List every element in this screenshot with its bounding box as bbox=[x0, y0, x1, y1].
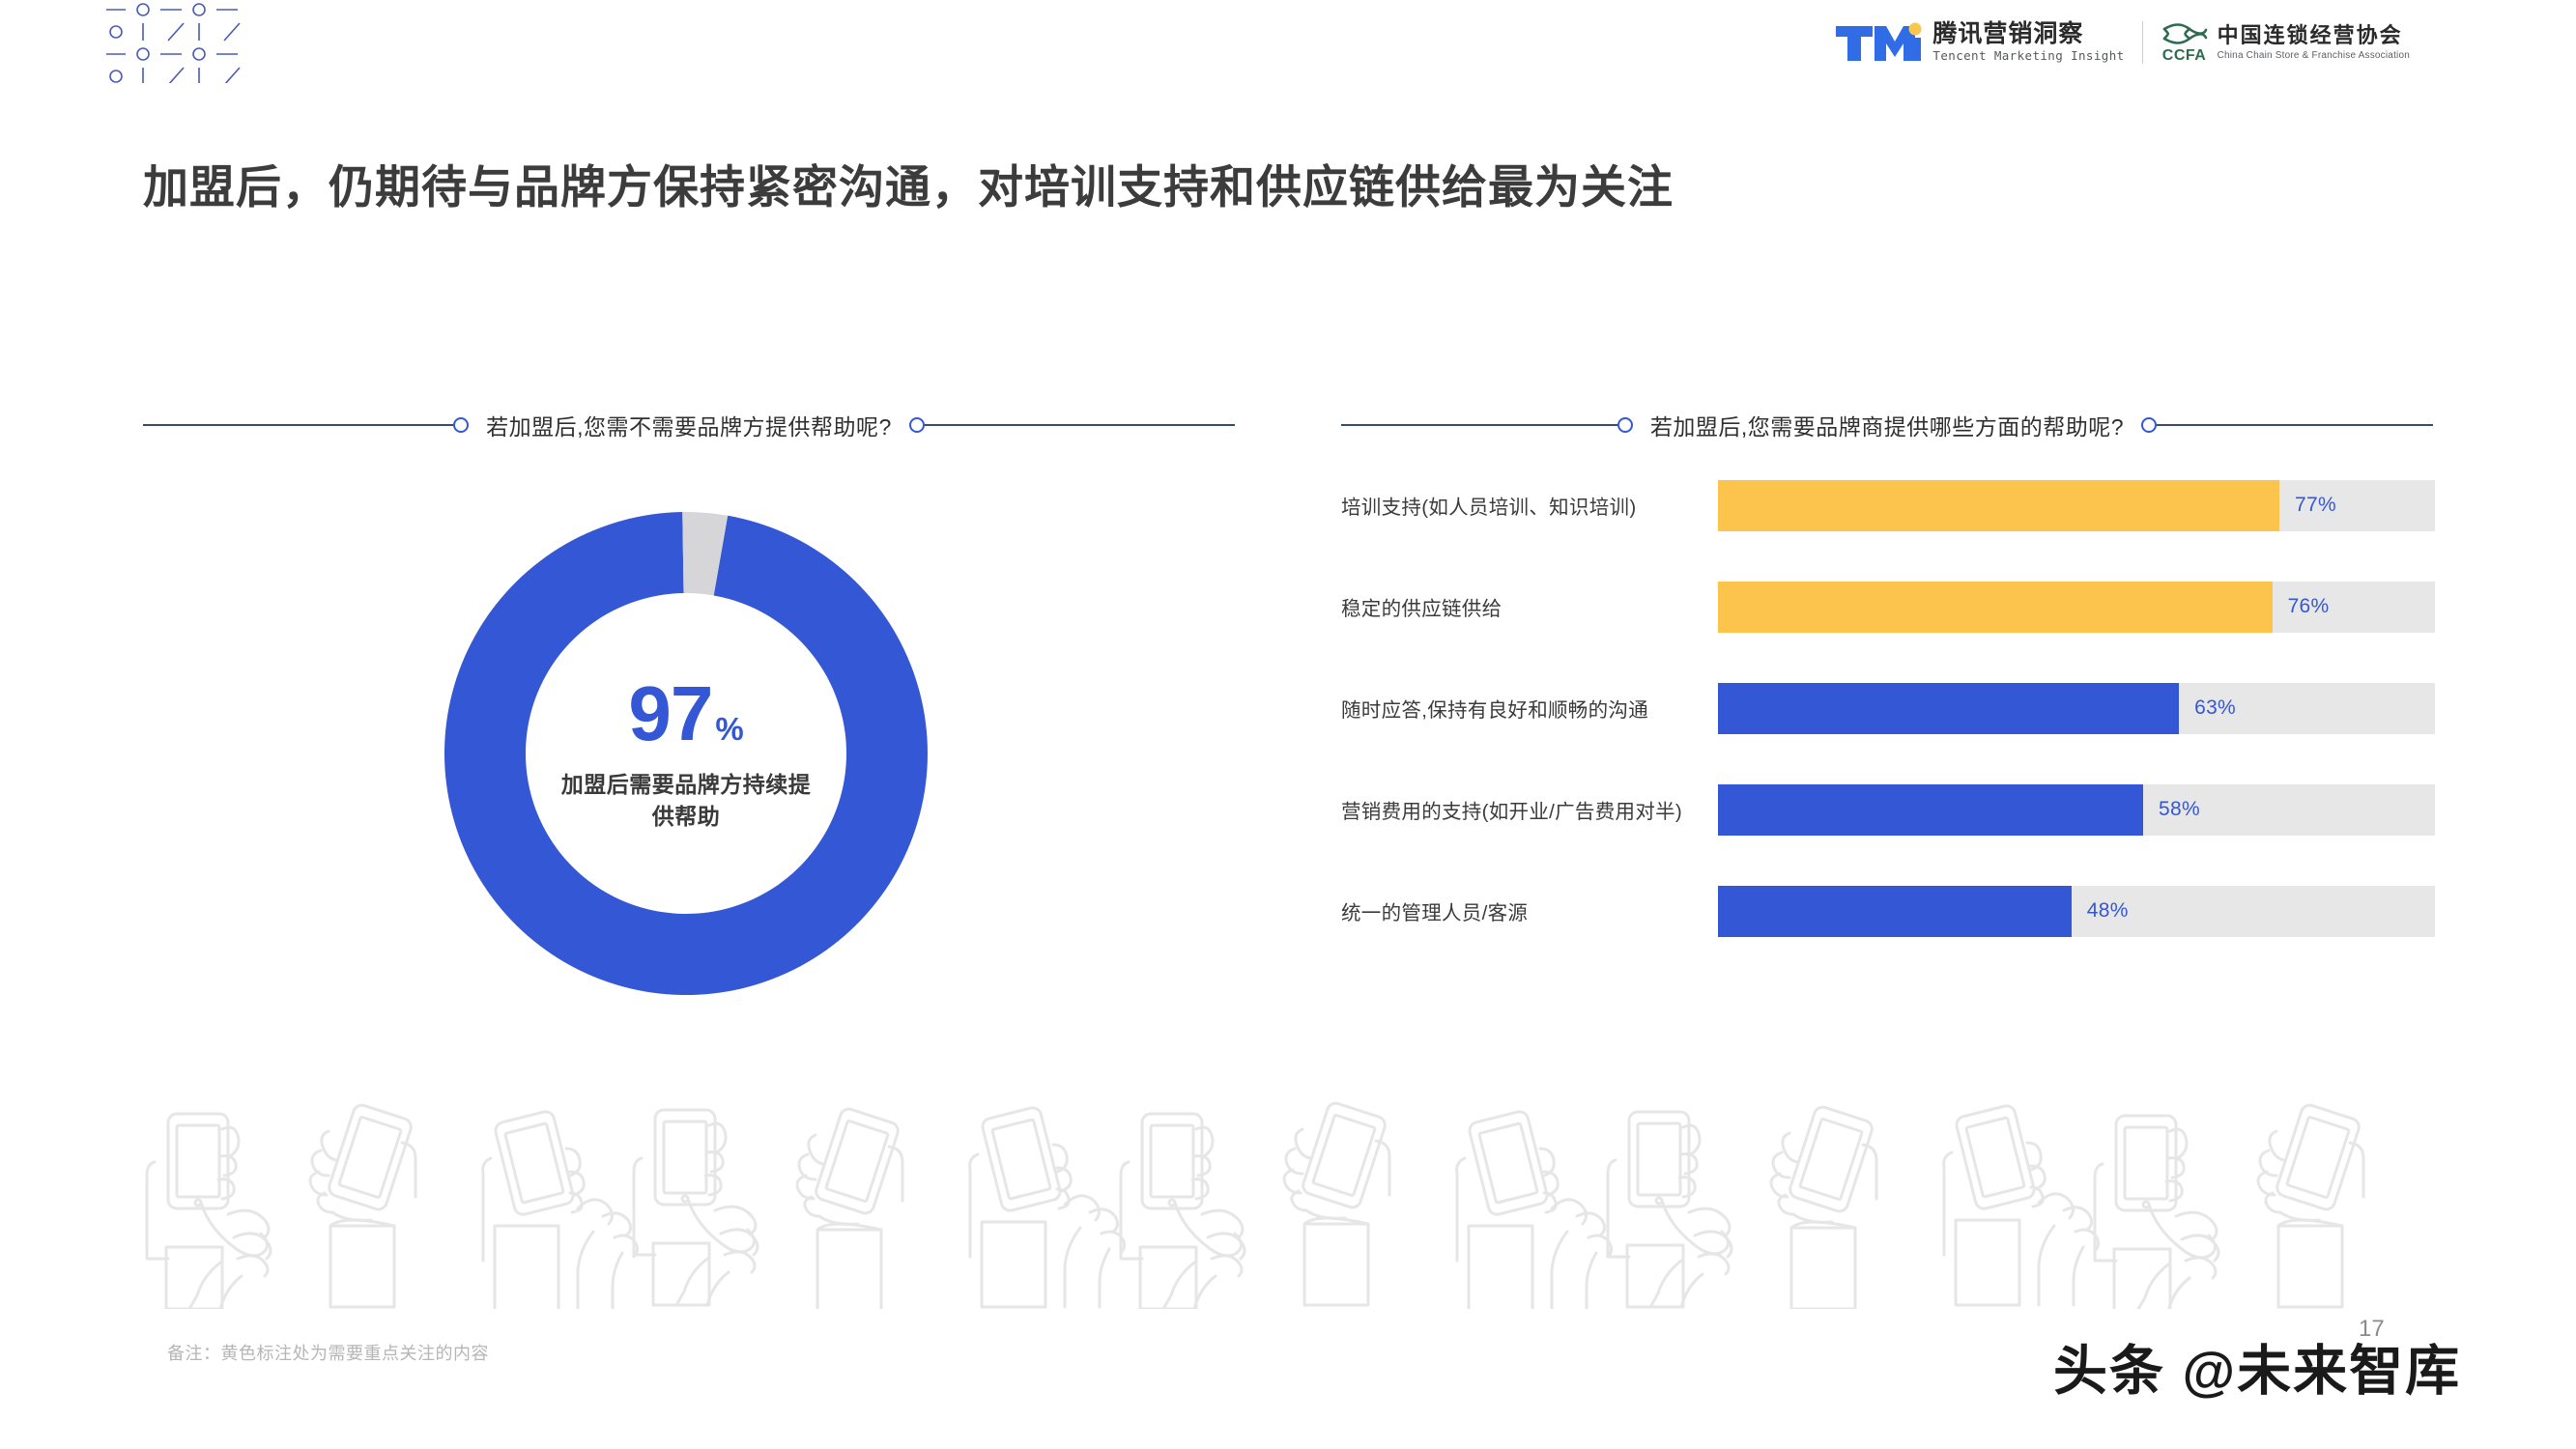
tmi-logo-cn: 腾讯营销洞察 bbox=[1932, 22, 2124, 46]
bar-track: 48% bbox=[1718, 886, 2435, 937]
bar-track: 76% bbox=[1718, 582, 2435, 633]
ccfa-logo: CCFA 中国连锁经营协会 China Chain Store & Franch… bbox=[2161, 21, 2410, 64]
bar-row: 营销费用的支持(如开业/广告费用对半)58% bbox=[1341, 776, 2435, 843]
ccfa-logo-abbr: CCFA bbox=[2162, 48, 2207, 64]
logo-bar: 腾讯营销洞察 Tencent Marketing Insight CCFA 中 bbox=[1834, 14, 2410, 71]
bar-row: 稳定的供应链供给76% bbox=[1341, 573, 2435, 640]
bar-row: 随时应答,保持有良好和顺畅的沟通63% bbox=[1341, 674, 2435, 742]
left-section-header: 若加盟后,您需不需要品牌方提供帮助呢? bbox=[143, 409, 1235, 441]
hands-holding-phones-illustration-icon bbox=[145, 1096, 2445, 1309]
left-section-title: 若加盟后,您需不需要品牌方提供帮助呢? bbox=[469, 409, 909, 441]
bar-label: 营销费用的支持(如开业/广告费用对半) bbox=[1341, 795, 1718, 824]
donut-caption: 加盟后需要品牌方持续提供帮助 bbox=[560, 769, 812, 832]
donut-unit: % bbox=[715, 713, 743, 745]
ccfa-logo-mark-icon bbox=[2161, 21, 2209, 46]
tmi-logo: 腾讯营销洞察 Tencent Marketing Insight bbox=[1834, 20, 2124, 65]
bar-chart: 培训支持(如人员培训、知识培训)77%稳定的供应链供给76%随时应答,保持有良好… bbox=[1341, 471, 2435, 945]
bar-track: 77% bbox=[1718, 480, 2435, 531]
bar-fill bbox=[1718, 480, 2279, 531]
circle-marker-icon bbox=[453, 417, 469, 433]
bar-fill bbox=[1718, 784, 2143, 836]
watermark: 头条 @未来智库 bbox=[2053, 1328, 2461, 1406]
bar-value-label: 77% bbox=[2295, 494, 2336, 517]
bar-value-label: 76% bbox=[2288, 595, 2330, 618]
bar-value-label: 58% bbox=[2159, 798, 2200, 821]
header-line-left bbox=[143, 424, 453, 426]
page-title: 加盟后，仍期待与品牌方保持紧密沟通，对培训支持和供应链供给最为关注 bbox=[143, 150, 1674, 216]
tmi-logo-mark-icon bbox=[1834, 20, 1923, 65]
donut-chart: 97 % 加盟后需要品牌方持续提供帮助 bbox=[440, 507, 932, 1000]
bar-row: 培训支持(如人员培训、知识培训)77% bbox=[1341, 471, 2435, 539]
bar-fill bbox=[1718, 582, 2273, 633]
right-section-title: 若加盟后,您需要品牌商提供哪些方面的帮助呢? bbox=[1633, 409, 2141, 441]
circle-marker-icon bbox=[1617, 417, 1633, 433]
header-line-left bbox=[1341, 424, 1617, 426]
donut-value: 97 bbox=[628, 675, 712, 753]
header-line-right bbox=[925, 424, 1235, 426]
bar-label: 培训支持(如人员培训、知识培训) bbox=[1341, 491, 1718, 520]
dot-dash-grid-pattern-icon bbox=[104, 2, 298, 83]
bar-label: 随时应答,保持有良好和顺畅的沟通 bbox=[1341, 694, 1718, 723]
ccfa-logo-cn: 中国连锁经营协会 bbox=[2218, 25, 2410, 46]
circle-marker-icon bbox=[909, 417, 925, 433]
right-section-header: 若加盟后,您需要品牌商提供哪些方面的帮助呢? bbox=[1341, 409, 2433, 441]
slide-page: 腾讯营销洞察 Tencent Marketing Insight CCFA 中 bbox=[0, 0, 2576, 1449]
bar-fill bbox=[1718, 683, 2179, 734]
tmi-logo-en: Tencent Marketing Insight bbox=[1932, 50, 2124, 63]
bar-track: 58% bbox=[1718, 784, 2435, 836]
header-line-right bbox=[2157, 424, 2433, 426]
bar-value-label: 48% bbox=[2087, 899, 2129, 923]
bar-value-label: 63% bbox=[2194, 696, 2236, 720]
bar-track: 63% bbox=[1718, 683, 2435, 734]
bar-row: 统一的管理人员/客源48% bbox=[1341, 877, 2435, 945]
bar-label: 稳定的供应链供给 bbox=[1341, 592, 1718, 621]
logo-divider bbox=[2142, 21, 2143, 64]
circle-marker-icon bbox=[2141, 417, 2157, 433]
ccfa-logo-en: China Chain Store & Franchise Associatio… bbox=[2218, 51, 2410, 61]
bar-label: 统一的管理人员/客源 bbox=[1341, 896, 1718, 925]
donut-center-label: 97 % 加盟后需要品牌方持续提供帮助 bbox=[440, 507, 932, 1000]
footnote-note: 备注：黄色标注处为需要重点关注的内容 bbox=[167, 1340, 489, 1365]
bar-fill bbox=[1718, 886, 2072, 937]
